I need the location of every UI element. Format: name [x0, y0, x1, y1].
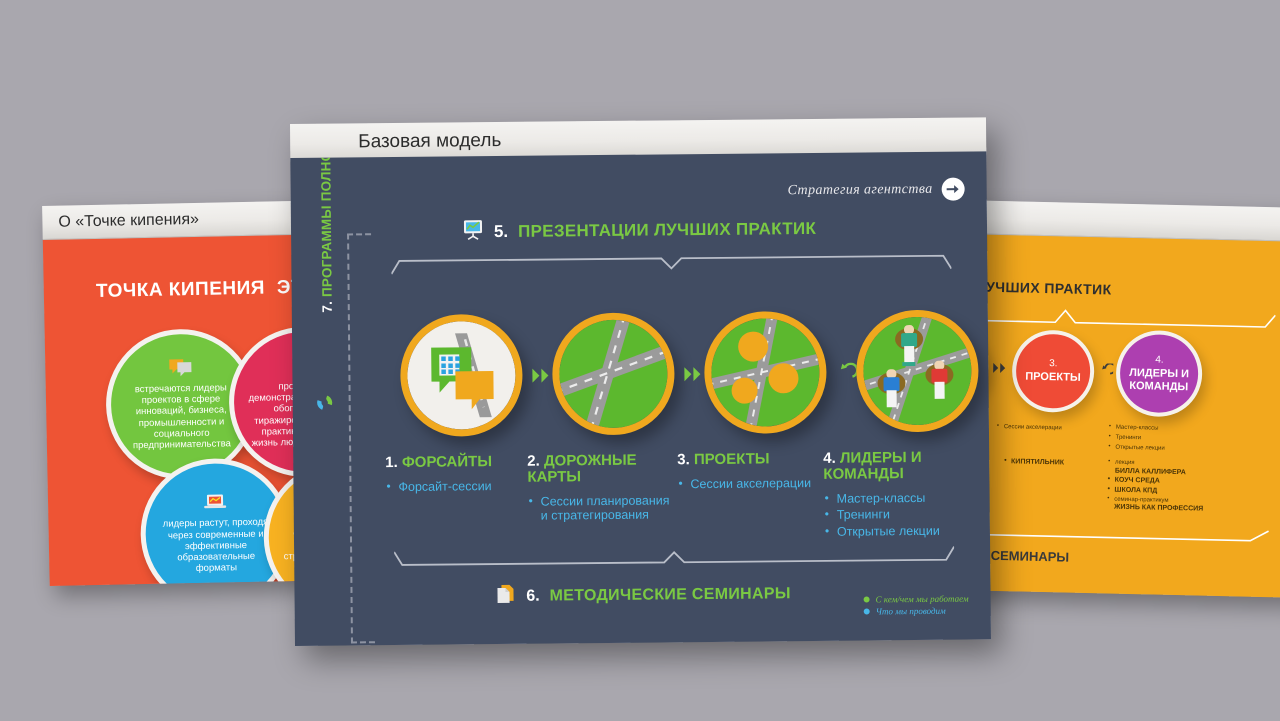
- top-section-num: 5.: [494, 221, 508, 241]
- arrow-double-right-icon: [992, 361, 1008, 375]
- list-item: Открытые лекции: [824, 523, 984, 539]
- right-circle-3: 4. ЛИДЕРЫ И КОМАНДЫ: [1115, 330, 1203, 418]
- arrow-double-right-icon-1: [530, 365, 552, 385]
- list-item: Сессии акселерации: [677, 476, 819, 492]
- stage-3-title: ПРОЕКТЫ: [694, 450, 770, 468]
- arrow-double-right-icon-2: [682, 364, 704, 384]
- speech-bubble-icon: [167, 358, 193, 379]
- stage-text-2: 2. ДОРОЖНЫЕ КАРТЫ Сессии планирования и …: [527, 452, 670, 525]
- stage-circle-1: [400, 314, 523, 437]
- top-section-label: ПРЕЗЕНТАЦИИ ЛУЧШИХ ПРАКТИК: [518, 218, 816, 241]
- stage-4-num: 4.: [823, 450, 836, 467]
- brace-top-right: [949, 306, 1275, 330]
- arrow-loop-icon-center: [834, 363, 856, 383]
- right-col-mid: Сессии акселерации: [997, 423, 1097, 435]
- stage-text-4: 4. ЛИДЕРЫ И КОМАНДЫ Мастер-классы Тренин…: [823, 449, 984, 541]
- top-section-heading: 5. ПРЕЗЕНТАЦИИ ЛУЧШИХ ПРАКТИК: [291, 213, 987, 247]
- refresh-cycle-icon: [316, 394, 334, 417]
- stage-2-num: 2.: [527, 453, 540, 470]
- stage-2-title: ДОРОЖНЫЕ КАРТЫ: [527, 452, 636, 486]
- stage-circle-4-ring: [856, 309, 979, 432]
- vertical-cycle-num: 7.: [320, 301, 335, 313]
- legend-dot-green: [864, 596, 870, 602]
- stage-1-list: Форсайт-сессии: [385, 478, 527, 494]
- stage-circle-2-ring: [552, 312, 675, 435]
- list-item: Форсайт-сессии: [385, 478, 527, 494]
- right-circle-2-label: ПРОЕКТЫ: [1025, 371, 1081, 385]
- legend-label-2: Что мы проводим: [876, 606, 946, 617]
- legend: С кем/чем мы работаем Что мы проводим: [864, 594, 969, 619]
- list-item: Сессии планирования и стратегирования: [528, 493, 670, 524]
- stage-circle-3-ring: [704, 311, 827, 434]
- stage-1-num: 1.: [385, 454, 398, 471]
- legend-row-2: Что мы проводим: [864, 606, 969, 617]
- legend-label-1: С кем/чем мы работаем: [876, 594, 969, 605]
- bottom-section-label: МЕТОДИЧЕСКИЕ СЕМИНАРЫ: [550, 585, 791, 605]
- stage-text-1: 1. ФОРСАЙТЫ Форсайт-сессии: [385, 454, 527, 497]
- documents-icon: [494, 583, 516, 610]
- speech-bubbles-building-icon: [407, 321, 516, 430]
- stage-1-title: ФОРСАЙТЫ: [402, 453, 492, 471]
- brace-top-center: [391, 252, 951, 275]
- stage-text-3: 3. ПРОЕКТЫ Сессии акселерации: [677, 451, 819, 494]
- cycle-dashed-bracket: [347, 233, 375, 643]
- strategy-label: Стратегия агентства: [788, 181, 933, 198]
- slide-left-title: О «Точке кипения»: [58, 210, 199, 231]
- stage-circle-2: [552, 312, 675, 435]
- right-circle-2: 3. ПРОЕКТЫ: [1011, 329, 1095, 413]
- bubble-green-text: встречаются лидеры проектов в сфере инно…: [125, 382, 238, 451]
- bottom-section-num: 6.: [526, 587, 540, 605]
- stage-text-columns: 1. ФОРСАЙТЫ Форсайт-сессии 2. ДОРОЖНЫЕ К…: [385, 449, 985, 455]
- laptop-chart-icon: [202, 493, 228, 514]
- brace-bottom-right: [949, 521, 1270, 543]
- arrow-loop-icon: [1097, 363, 1113, 377]
- slide-right-body: ЦИИ ЛУЧШИХ ПРАКТИК Е 3. ПРОЕКТЫ 4.: [949, 234, 1280, 599]
- stage-circle-1-ring: [400, 314, 523, 437]
- stage-text-1-heading: 1. ФОРСАЙТЫ: [385, 454, 527, 471]
- arrow-right-circle-icon[interactable]: [942, 178, 965, 201]
- stage-circles-row: [400, 309, 971, 444]
- stage-circle-4: [856, 309, 979, 432]
- stage-2-list: Сессии планирования и стратегирования: [528, 493, 670, 524]
- stage-text-4-heading: 4. ЛИДЕРЫ И КОМАНДЫ: [823, 449, 983, 482]
- slide-center-base-model[interactable]: Базовая модель Стратегия агентства 7. ПР…: [290, 117, 991, 646]
- stage-4-title: ЛИДЕРЫ И КОМАНДЫ: [823, 449, 921, 483]
- slide-center-title: Базовая модель: [358, 129, 501, 152]
- presentation-chart-icon: [462, 218, 484, 245]
- right-col-mid-item: Сессии акселерации: [997, 423, 1097, 434]
- r2-4-big: ЖИЗНЬ КАК ПРОФЕССИЯ: [1114, 504, 1203, 513]
- right-col-right2: лекция БИЛЛА КАЛЛИФЕРА КОУЧ СРЕДА ШКОЛА …: [1107, 459, 1248, 516]
- slide-center-body: Стратегия агентства 7. ПРОГРАММЫ ПОЛНОГО…: [290, 151, 991, 646]
- stage-3-list: Сессии акселерации: [677, 476, 819, 492]
- r2-1-big: БИЛЛА КАЛЛИФЕРА: [1115, 467, 1186, 476]
- brace-bottom-center: [394, 546, 954, 569]
- right-circle-2-num: 3.: [1049, 358, 1058, 369]
- slide-right-practices[interactable]: ЦИИ ЛУЧШИХ ПРАКТИК Е 3. ПРОЕКТЫ 4.: [949, 200, 1280, 599]
- right-col-right2-item-4: семинар-практикум ЖИЗНЬ КАК ПРОФЕССИЯ: [1107, 496, 1247, 515]
- r2-4-small: семинар-практикум: [1114, 496, 1168, 503]
- stage-4-list: Мастер-классы Тренинги Открытые лекции: [824, 490, 984, 540]
- stage-text-3-heading: 3. ПРОЕКТЫ: [677, 451, 819, 468]
- right-col-right: Мастер-классы Тренинги Открытые лекции: [1108, 423, 1229, 456]
- stage-circle-3: [704, 311, 827, 434]
- strategy-link[interactable]: Стратегия агентства: [787, 178, 964, 203]
- bubble-blue-text: лидеры растут, проходя через современные…: [159, 517, 272, 575]
- right-col-right-item-3: Открытые лекции: [1108, 443, 1228, 455]
- stage-text-2-heading: 2. ДОРОЖНЫЕ КАРТЫ: [527, 452, 669, 485]
- r2-1-small: лекция: [1115, 460, 1135, 466]
- legend-row-1: С кем/чем мы работаем: [864, 594, 969, 605]
- heading-part-1: ТОЧКА КИПЕНИЯ: [90, 277, 271, 303]
- road-nodes-icon: [711, 318, 820, 427]
- list-item: Мастер-классы: [824, 490, 984, 506]
- roadmap-icon: [559, 319, 668, 428]
- right-circle-3-num: 4.: [1155, 355, 1164, 366]
- stage-3-num: 3.: [677, 451, 690, 468]
- list-item: Тренинги: [824, 507, 984, 523]
- right-col-mid2: КИПЯТИЛЬНИК: [1004, 457, 1104, 471]
- right-circle-3-label: ЛИДЕРЫ И КОМАНДЫ: [1120, 367, 1199, 393]
- screenshot-stage: О «Точке кипения» ТОЧКА КИПЕНИЯЭТО ПЛОЩА…: [0, 0, 1280, 721]
- right-col-mid2-item: КИПЯТИЛЬНИК: [1004, 457, 1104, 470]
- right-col-right2-item-1: лекция БИЛЛА КАЛЛИФЕРА: [1108, 459, 1248, 478]
- legend-dot-blue: [864, 608, 870, 614]
- people-on-map-icon: [863, 316, 972, 425]
